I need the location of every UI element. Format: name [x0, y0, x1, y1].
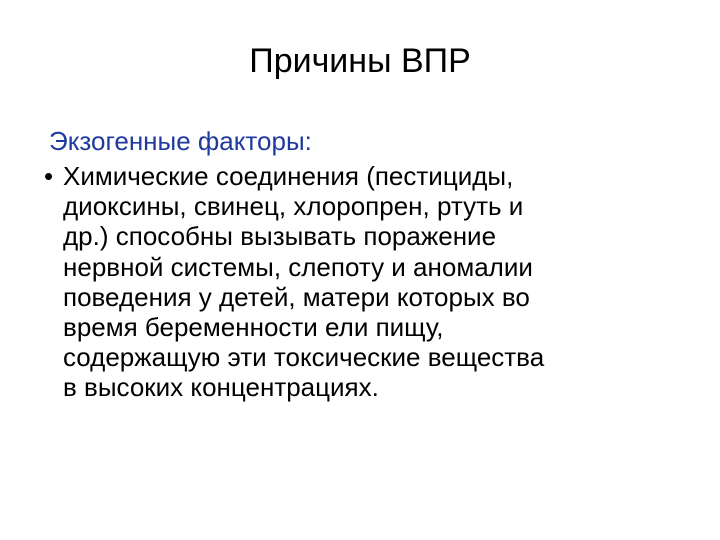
- text-line: диоксины, свинец, хлоропрен, ртуть и: [63, 191, 690, 221]
- text-line: поведения у детей, матери которых во: [63, 282, 690, 312]
- presentation-slide: Причины ВПР Экзогенные факторы: • Химиче…: [0, 0, 720, 540]
- page-title: Причины ВПР: [0, 40, 720, 82]
- text-line: содержащую эти токсические вещества: [63, 342, 690, 372]
- list-item-text: Химические соединения (пестициды, диокси…: [63, 161, 690, 403]
- text-line: Химические соединения (пестициды,: [63, 161, 690, 191]
- list-item: • Химические соединения (пестициды, диок…: [42, 161, 690, 403]
- subtitle-exogenous-factors: Экзогенные факторы:: [49, 124, 690, 158]
- slide-body-text: Экзогенные факторы: • Химические соедине…: [42, 124, 690, 403]
- text-line: время беременности ели пищу,: [63, 312, 690, 342]
- bullet-dot-icon: •: [44, 161, 58, 191]
- text-line: в высоких концентрациях.: [63, 372, 690, 402]
- text-line: нервной системы, слепоту и аномалии: [63, 252, 690, 282]
- text-line: др.) способны вызывать поражение: [63, 221, 690, 251]
- bullet-list: • Химические соединения (пестициды, диок…: [42, 161, 690, 403]
